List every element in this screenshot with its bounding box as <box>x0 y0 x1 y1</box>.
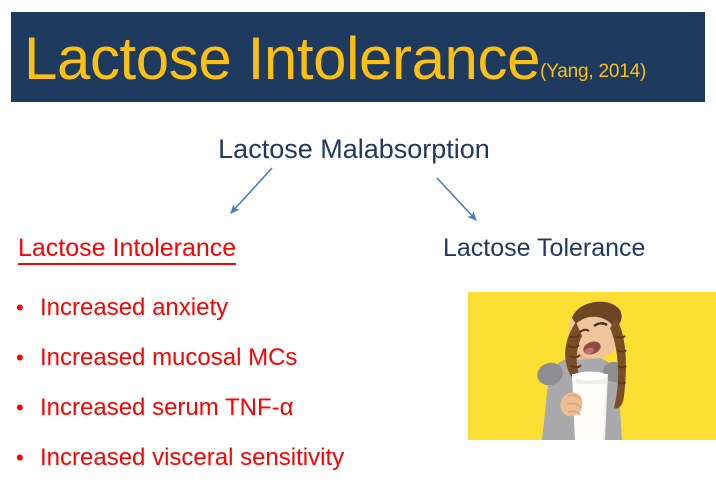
list-item-label: Increased visceral sensitivity <box>40 444 344 471</box>
title-banner-text-group: Lactose Intolerance(Yang, 2014) <box>24 29 646 89</box>
list-item-label: Increased serum TNF-α <box>40 394 294 421</box>
arrow-to-intolerance-icon <box>231 168 272 213</box>
list-item-label: Increased mucosal MCs <box>40 344 297 371</box>
girl-drinking-milk-photo <box>468 292 716 440</box>
title-citation: (Yang, 2014) <box>540 61 646 82</box>
left-branch-heading-text: Lactose Intolerance <box>18 234 236 265</box>
diagram-root-label: Lactose Malabsorption <box>0 134 716 165</box>
diagram-root-label-text: Lactose Malabsorption <box>218 134 490 164</box>
bullet-icon: • <box>16 383 34 433</box>
bullet-icon: • <box>16 283 34 333</box>
list-item: • Increased mucosal MCs <box>14 333 344 383</box>
title-banner: Lactose Intolerance(Yang, 2014) <box>11 12 705 102</box>
symptom-list: • Increased anxiety • Increased mucosal … <box>14 283 344 483</box>
list-item: • Increased visceral sensitivity <box>14 433 344 483</box>
right-branch-heading: Lactose Tolerance <box>443 234 645 263</box>
arrow-to-tolerance-icon <box>437 178 476 220</box>
girl-drinking-milk-illustration <box>468 292 716 440</box>
left-branch-heading: Lactose Intolerance <box>18 234 236 263</box>
bullet-icon: • <box>16 433 34 483</box>
list-item: • Increased serum TNF-α <box>14 383 344 433</box>
slide-canvas: Lactose Intolerance(Yang, 2014) Lactose … <box>0 0 716 487</box>
list-item: • Increased anxiety <box>14 283 344 333</box>
bullet-icon: • <box>16 333 34 383</box>
list-item-label: Increased anxiety <box>40 294 228 321</box>
page-title: Lactose Intolerance <box>24 25 540 92</box>
right-branch-heading-text: Lactose Tolerance <box>443 234 645 262</box>
